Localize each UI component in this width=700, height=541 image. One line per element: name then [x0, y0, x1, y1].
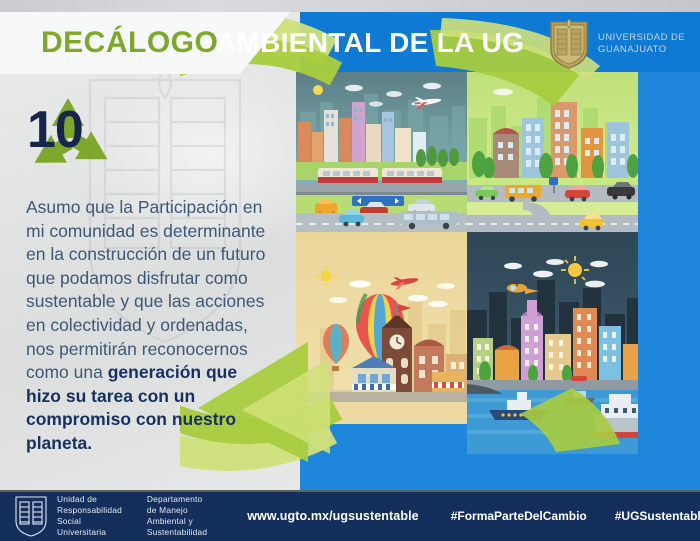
- footer-unit-line1: Unidad de Responsabilidad: [57, 494, 122, 516]
- page-title-highlight: DECÁLOGO: [41, 26, 218, 60]
- city-collage: [296, 72, 638, 454]
- quadrant-city-transit-overpass: [296, 72, 467, 232]
- university-logo-line2: GUANAJUATO: [598, 44, 685, 56]
- page-title-rest: AMBIENTAL DE LA UG: [216, 27, 524, 59]
- quadrant-balloons-historic-town: [296, 232, 467, 454]
- footer-top-rule: [0, 490, 700, 492]
- footer-unit-line2: Social Universitaria: [57, 516, 122, 538]
- footer-department-line2: Ambiental y Sustentabilidad: [147, 516, 207, 538]
- university-logo-text: UNIVERSIDAD DE GUANAJUATO: [598, 32, 685, 56]
- footer-department-block: Departamento de Manejo Ambiental y Suste…: [147, 494, 207, 538]
- footer-department-line1: Departamento de Manejo: [147, 494, 207, 516]
- decalogue-statement: Asumo que la Participación en mi comunid…: [26, 196, 274, 456]
- decalogue-number: 10: [27, 100, 83, 160]
- quadrant-waterfront-night-city: [467, 232, 638, 454]
- ug-crest-outline-icon: [14, 495, 48, 537]
- footer-hashtag-ug-sustentable[interactable]: #UGSustentable: [615, 509, 700, 523]
- poster-canvas: DECÁLOGO AMBIENTAL DE LA UG UNIVERSIDAD …: [0, 0, 700, 541]
- footer-hashtag-forma-parte[interactable]: #FormaParteDelCambio: [451, 509, 587, 523]
- university-logo-line1: UNIVERSIDAD DE: [598, 32, 685, 44]
- page-footer: Unidad de Responsabilidad Social Univers…: [0, 490, 700, 541]
- ug-crest-icon: [548, 19, 590, 69]
- quadrant-green-city-avenue: [467, 72, 638, 232]
- statement-regular-text: Asumo que la Participación en mi comunid…: [26, 197, 265, 382]
- footer-unit-block: Unidad de Responsabilidad Social Univers…: [57, 494, 122, 538]
- footer-website-link[interactable]: www.ugto.mx/ugsustentable: [247, 509, 419, 523]
- university-logo: UNIVERSIDAD DE GUANAJUATO: [548, 19, 685, 69]
- top-gray-strip: [0, 0, 700, 12]
